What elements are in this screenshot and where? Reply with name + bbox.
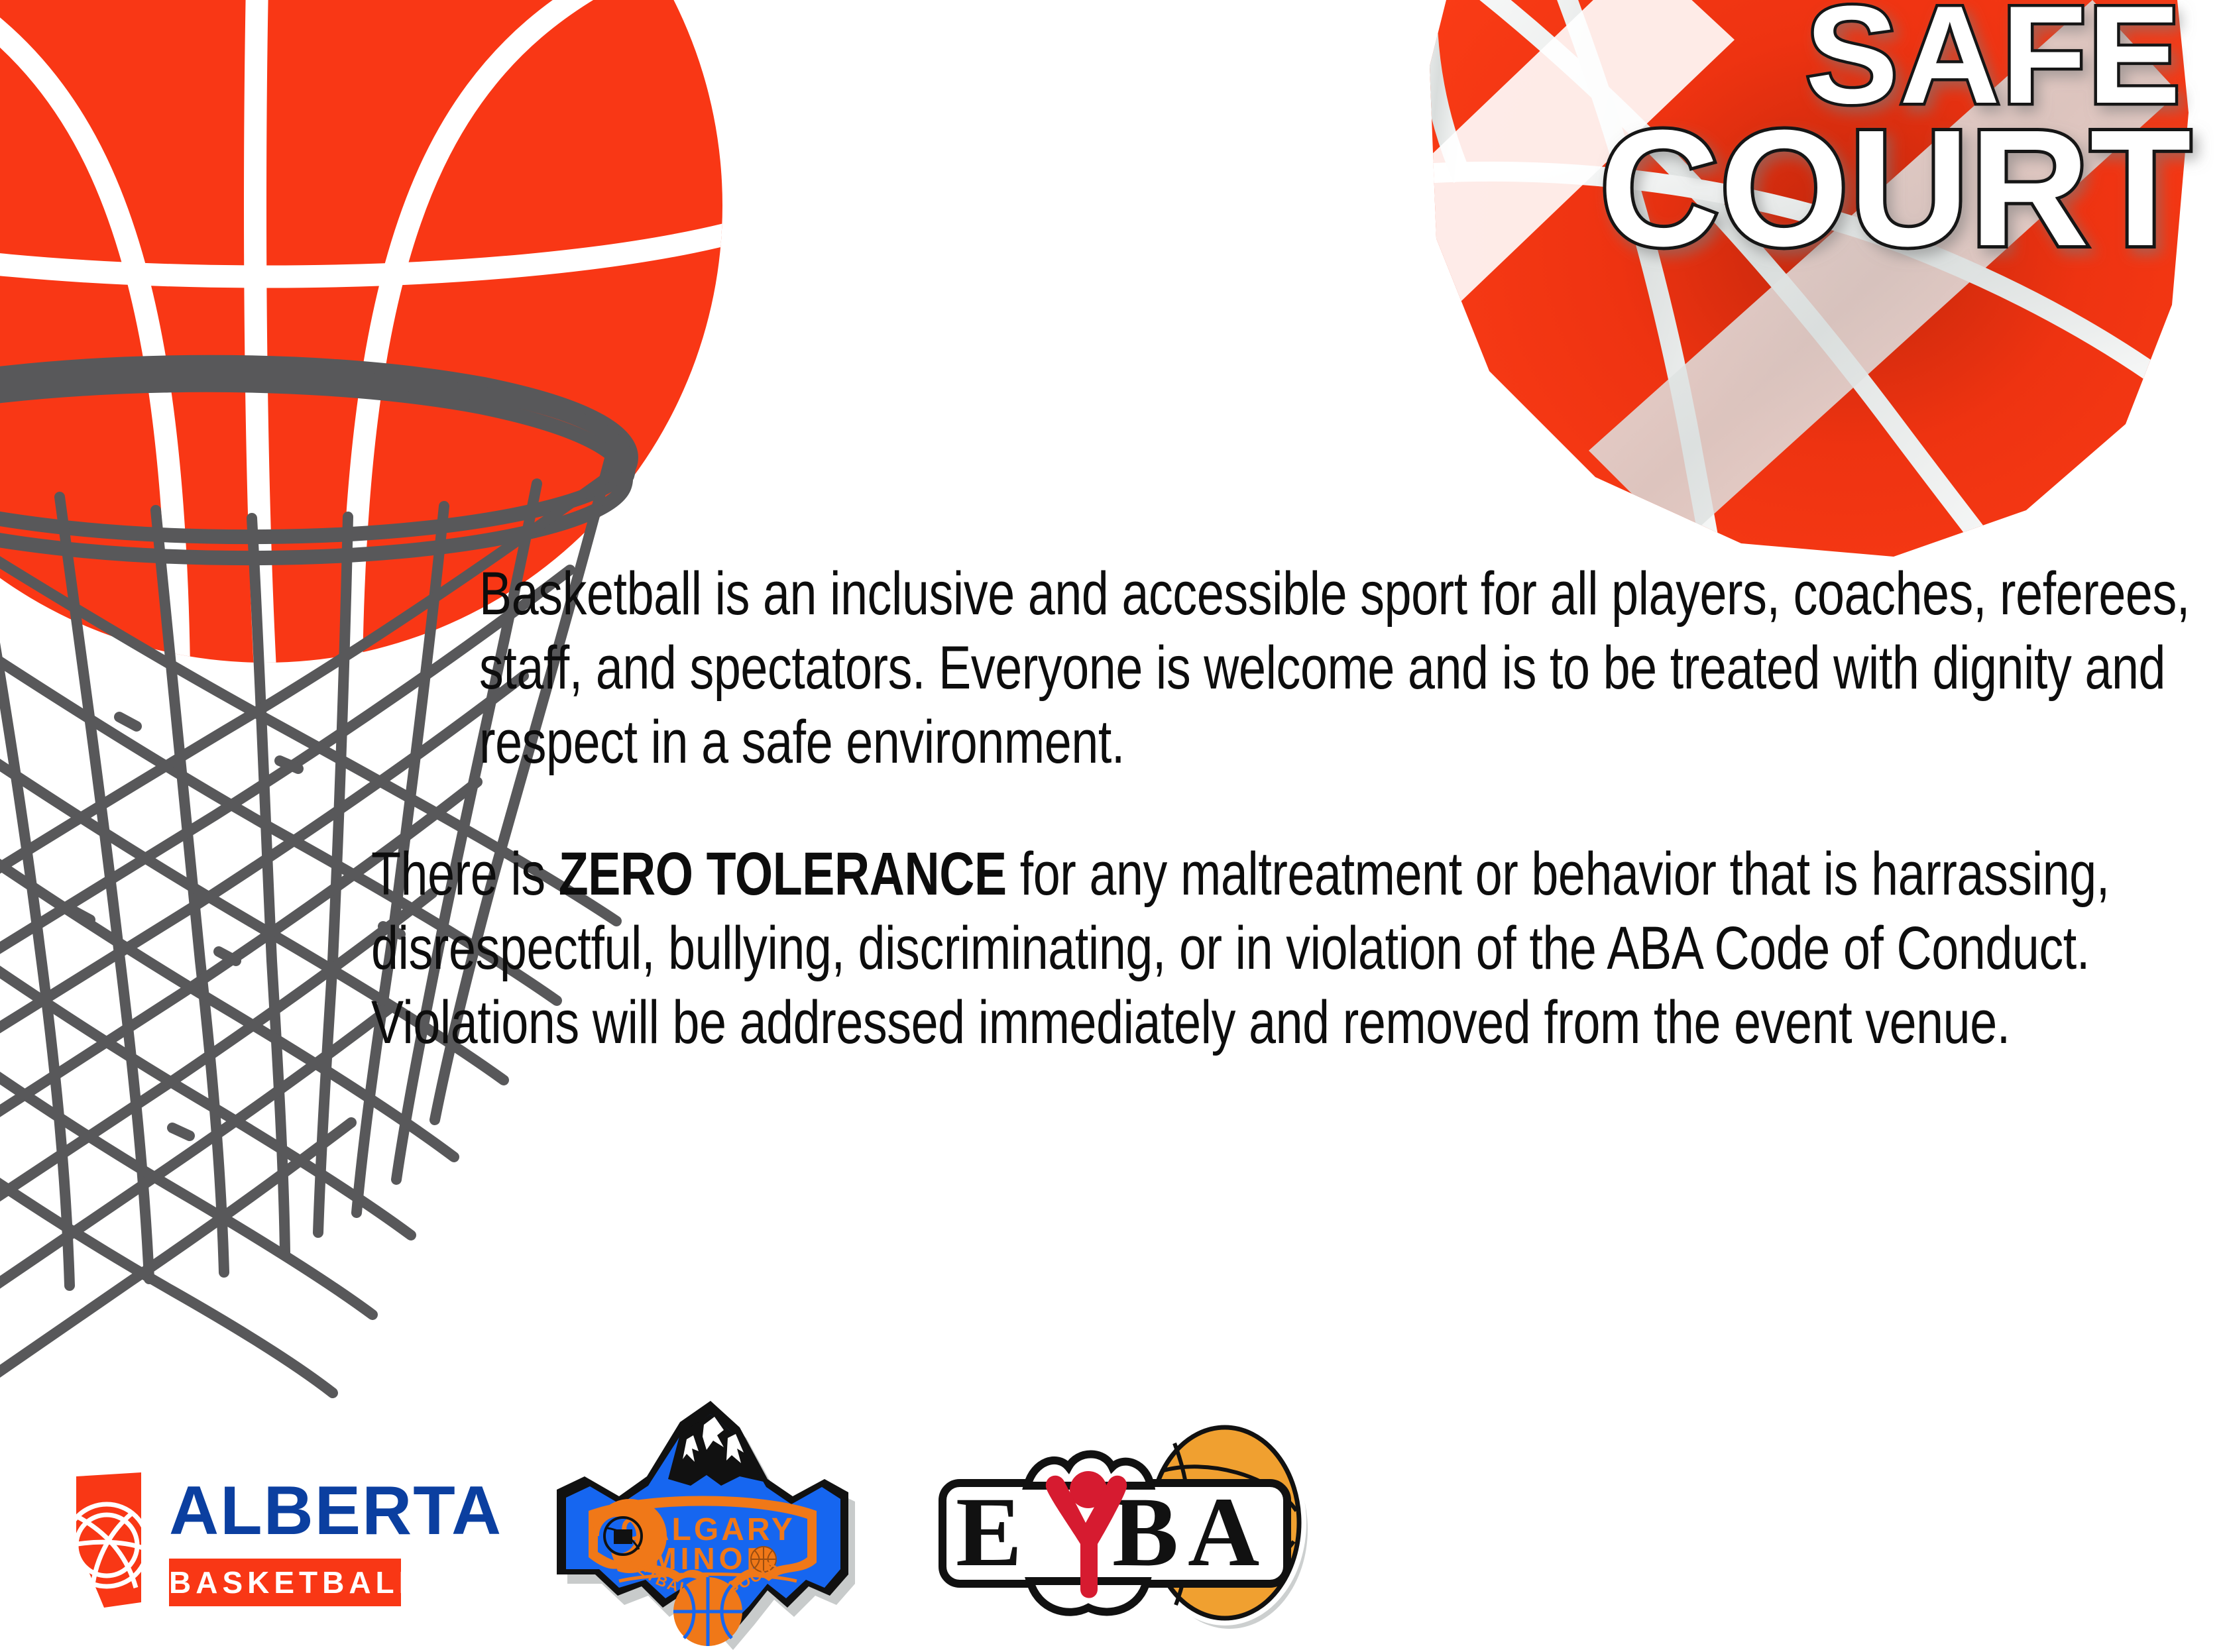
alberta-subtitle-bar: BASKETBALL xyxy=(169,1559,401,1606)
safe-court-badge: SAFE COURT xyxy=(1310,0,2225,623)
logo-eyba: E B A EYBA xyxy=(928,1411,1312,1630)
eyba-wordmark: EYBA xyxy=(928,1411,956,1414)
partner-logo-row: ALBERTA BASKETBALL xyxy=(0,1358,1392,1652)
badge-line2: COURT xyxy=(1599,95,2192,280)
zt-before: There is xyxy=(371,840,559,908)
eyba-letter-a: A xyxy=(1188,1477,1259,1587)
zero-tolerance-emphasis: ZERO TOLERANCE xyxy=(559,840,1007,908)
paragraph-inclusive: Basketball is an inclusive and accessibl… xyxy=(479,557,2225,780)
alberta-province-icon xyxy=(63,1471,149,1624)
alberta-subtitle: BASKETBALL xyxy=(169,1559,401,1606)
logo-alberta-basketball: ALBERTA BASKETBALL xyxy=(63,1471,461,1637)
alberta-wordmark: ALBERTA xyxy=(169,1476,502,1545)
logo-calgary-minor-basketball: CALGARY MINOR BASKETBALL ASSOCIATION xyxy=(550,1398,855,1652)
safe-court-poster: #F93715 xyxy=(0,0,2225,1652)
poster-copy: Basketball is an inclusive and accessibl… xyxy=(371,557,2147,1060)
eyba-letter-e: E xyxy=(956,1477,1022,1587)
paragraph-zero-tolerance: There is ZERO TOLERANCE for any maltreat… xyxy=(371,837,2169,1060)
